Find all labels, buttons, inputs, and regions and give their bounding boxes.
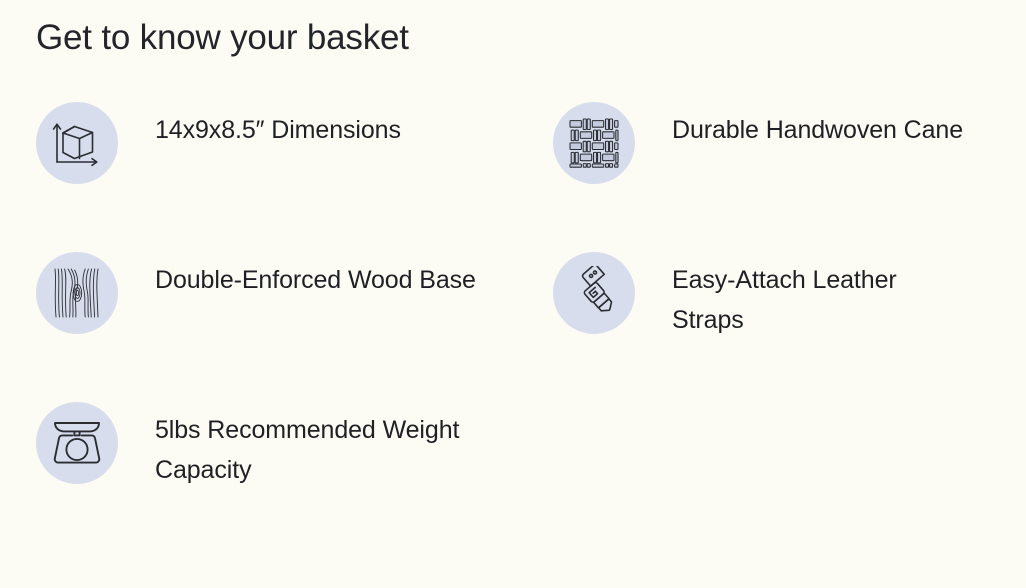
feature-label-wood-base: Double-Enforced Wood Base — [118, 250, 515, 300]
feature-label-leather-straps: Easy-Attach Leather Straps — [635, 250, 972, 340]
feature-item-wood-base: Double-Enforced Wood Base — [36, 250, 553, 400]
feature-item-handwoven-cane: Durable Handwoven Cane — [553, 100, 996, 250]
product-features-panel: Get to know your basket 14 — [0, 0, 1026, 588]
feature-item-leather-straps: Easy-Attach Leather Straps — [553, 250, 996, 400]
feature-grid: 14x9x8.5″ Dimensions — [36, 100, 996, 550]
dimensions-cube-icon — [36, 102, 118, 184]
wood-grain-icon — [36, 252, 118, 334]
feature-item-dimensions: 14x9x8.5″ Dimensions — [36, 100, 553, 250]
page-title: Get to know your basket — [36, 16, 409, 60]
feature-label-weight-capacity: 5lbs Recommended Weight Capacity — [118, 400, 515, 490]
weight-scale-icon — [36, 402, 118, 484]
woven-cane-icon — [553, 102, 635, 184]
leather-strap-buckle-icon — [553, 252, 635, 334]
feature-label-dimensions: 14x9x8.5″ Dimensions — [118, 100, 515, 150]
feature-item-weight-capacity: 5lbs Recommended Weight Capacity — [36, 400, 553, 550]
feature-label-handwoven-cane: Durable Handwoven Cane — [635, 100, 972, 150]
